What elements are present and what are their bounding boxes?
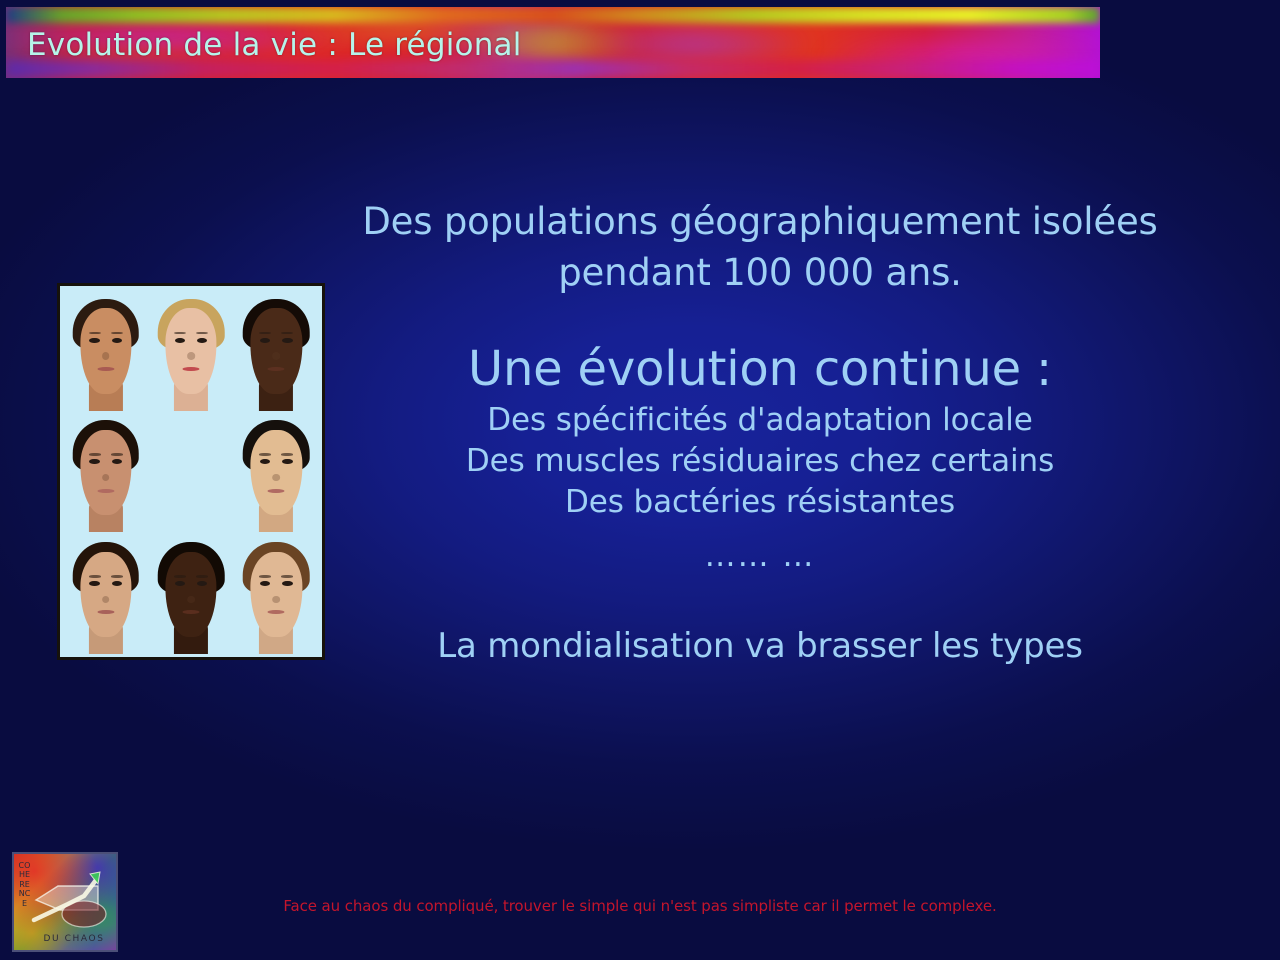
ellipsis-line: …… … — [280, 536, 1240, 576]
slide-body: Des populations géographiquement isolées… — [280, 196, 1240, 668]
eyebrow-left — [259, 453, 271, 456]
eyebrow-left — [259, 575, 271, 578]
logo-coherence-du-chaos: COHERENCE DU CHAOS — [12, 852, 118, 952]
footer-tagline: Face au chaos du compliqué, trouver le s… — [0, 896, 1280, 916]
face-portrait-2 — [148, 289, 233, 411]
face-portrait-6 — [63, 532, 148, 654]
face-shape — [80, 552, 131, 637]
presentation-slide: Evolution de la vie : Le régional — [0, 0, 1280, 960]
eyebrow-right — [111, 575, 123, 578]
face-portrait-4 — [63, 411, 148, 533]
eye-right — [197, 338, 207, 343]
eye-right — [112, 581, 122, 586]
body-headline: Une évolution continue : — [280, 338, 1240, 400]
face-shape — [165, 552, 216, 637]
nose-shape — [272, 474, 280, 481]
nose-shape — [187, 596, 195, 603]
logo-vertical-text: COHERENCE — [18, 861, 31, 947]
nose-shape — [187, 352, 195, 359]
sub-line-3: Des bactéries résistantes — [280, 482, 1240, 523]
face-portrait-1 — [63, 289, 148, 411]
eyebrow-left — [89, 453, 101, 456]
nose-shape — [272, 352, 280, 359]
nose-shape — [102, 596, 110, 603]
eyebrow-right — [196, 575, 208, 578]
banner-gradient-top-edge — [6, 7, 1100, 23]
logo-bottom-text: DU CHAOS — [32, 934, 116, 944]
slide-title: Evolution de la vie : Le régional — [27, 25, 522, 65]
title-banner: Evolution de la vie : Le régional — [6, 7, 1100, 78]
logo-arrow-icon — [28, 866, 116, 938]
closing-line: La mondialisation va brasser les types — [280, 624, 1240, 668]
lead-line-1: Des populations géographiquement isolées — [280, 196, 1240, 247]
eyebrow-left — [174, 575, 186, 578]
eyebrow-left — [89, 575, 101, 578]
sub-line-1: Des spécificités d'adaptation locale — [280, 400, 1240, 441]
face-shape — [80, 430, 131, 515]
nose-shape — [102, 474, 110, 481]
face-shape — [80, 308, 131, 393]
nose-shape — [272, 596, 280, 603]
sub-line-2: Des muscles résiduaires chez certains — [280, 441, 1240, 482]
eye-left — [89, 581, 99, 586]
empty-cell — [148, 411, 233, 533]
eye-left — [175, 338, 185, 343]
eye-right — [112, 338, 122, 343]
eye-left — [89, 338, 99, 343]
face-shape — [165, 308, 216, 393]
face-portrait-7 — [148, 532, 233, 654]
nose-shape — [102, 352, 110, 359]
eyebrow-right — [111, 453, 123, 456]
eye-left — [260, 338, 270, 343]
lead-line-2: pendant 100 000 ans. — [280, 247, 1240, 298]
